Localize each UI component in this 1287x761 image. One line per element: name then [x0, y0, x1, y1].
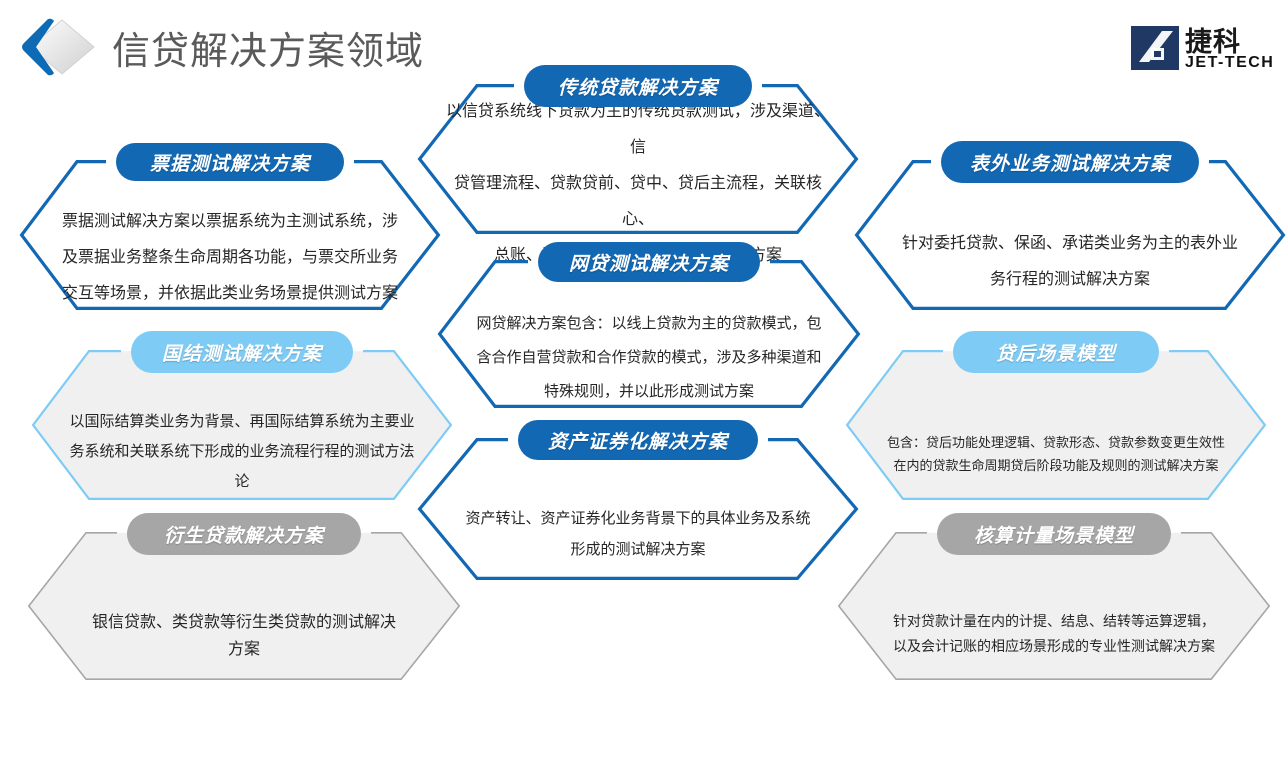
slide-canvas: 信贷解决方案领域 捷科 JET-TECH 票据测试解决方案以票据系统为主测试系统…	[0, 0, 1287, 761]
hex-card-description: 针对贷款计量在内的计提、结息、结转等运算逻辑， 以及会计记账的相应场景形成的专业…	[893, 610, 1215, 660]
hex-card-title-guojie[interactable]: 国结测试解决方案	[131, 331, 353, 373]
hex-card-description: 包含：贷后功能处理逻辑、贷款形态、贷款参数变更生效性 在内的贷款生命周期贷后阶段…	[887, 432, 1225, 478]
hex-card-zichan[interactable]: 资产转让、资产证券化业务背景下的具体业务及系统 形成的测试解决方案资产证券化解决…	[418, 438, 858, 580]
hex-card-description: 网贷解决方案包含：以线上贷款为主的贷款模式，包 含合作自营贷款和合作贷款的模式，…	[476, 306, 821, 408]
hex-card-yansheng[interactable]: 银信贷款、类贷款等衍生类贷款的测试解决 方案衍生贷款解决方案	[28, 532, 460, 680]
hex-card-title-zichan[interactable]: 资产证券化解决方案	[518, 420, 758, 460]
hex-card-body-piaoju: 票据测试解决方案以票据系统为主测试系统，涉 及票据业务整条生命周期各功能，与票交…	[20, 160, 440, 310]
hex-card-title-hesuan[interactable]: 核算计量场景模型	[937, 513, 1171, 555]
hex-card-title-piaoju[interactable]: 票据测试解决方案	[116, 143, 344, 181]
hex-card-title-daihou[interactable]: 贷后场景模型	[953, 331, 1159, 373]
hex-card-piaoju[interactable]: 票据测试解决方案以票据系统为主测试系统，涉 及票据业务整条生命周期各功能，与票交…	[20, 160, 440, 310]
hex-card-body-wangdai: 网贷解决方案包含：以线上贷款为主的贷款模式，包 含合作自营贷款和合作贷款的模式，…	[438, 260, 860, 408]
hex-card-biaowai[interactable]: 针对委托贷款、保函、承诺类业务为主的表外业 务行程的测试解决方案表外业务测试解决…	[855, 160, 1285, 310]
hex-card-title-biaowai[interactable]: 表外业务测试解决方案	[941, 141, 1199, 183]
hex-card-guojie[interactable]: 以国际结算类业务为背景、再国际结算系统为主要业 务系统和关联系统下形成的业务流程…	[32, 350, 452, 500]
hex-card-description: 以国际结算类业务为背景、再国际结算系统为主要业 务系统和关联系统下形成的业务流程…	[69, 406, 414, 496]
hex-card-title-yansheng[interactable]: 衍生贷款解决方案	[127, 513, 361, 555]
hex-card-chuantong[interactable]: 以信贷系统线下贷款为主的传统贷款测试，涉及渠道、信 贷管理流程、贷款贷前、贷中、…	[418, 84, 858, 234]
hex-card-title-wangdai[interactable]: 网贷测试解决方案	[538, 242, 760, 282]
page-title: 信贷解决方案领域	[112, 20, 424, 75]
hex-card-wangdai[interactable]: 网贷解决方案包含：以线上贷款为主的贷款模式，包 含合作自营贷款和合作贷款的模式，…	[438, 260, 860, 408]
brand-name-en: JET-TECH	[1185, 54, 1274, 72]
hex-card-description: 针对委托贷款、保函、承诺类业务为主的表外业 务行程的测试解决方案	[902, 225, 1238, 297]
hex-card-description: 票据测试解决方案以票据系统为主测试系统，涉 及票据业务整条生命周期各功能，与票交…	[62, 203, 398, 311]
diamond-logo-icon	[16, 14, 126, 80]
hex-card-description: 银信贷款、类贷款等衍生类贷款的测试解决 方案	[92, 608, 396, 662]
hex-card-daihou[interactable]: 包含：贷后功能处理逻辑、贷款形态、贷款参数变更生效性 在内的贷款生命周期贷后阶段…	[846, 350, 1266, 500]
hex-card-description: 资产转让、资产证券化业务背景下的具体业务及系统 形成的测试解决方案	[465, 503, 810, 565]
hex-card-hesuan[interactable]: 针对贷款计量在内的计提、结息、结转等运算逻辑， 以及会计记账的相应场景形成的专业…	[838, 532, 1270, 680]
hex-card-title-chuantong[interactable]: 传统贷款解决方案	[524, 65, 752, 107]
jettech-logo-icon: 捷科 JET-TECH	[1129, 22, 1279, 78]
